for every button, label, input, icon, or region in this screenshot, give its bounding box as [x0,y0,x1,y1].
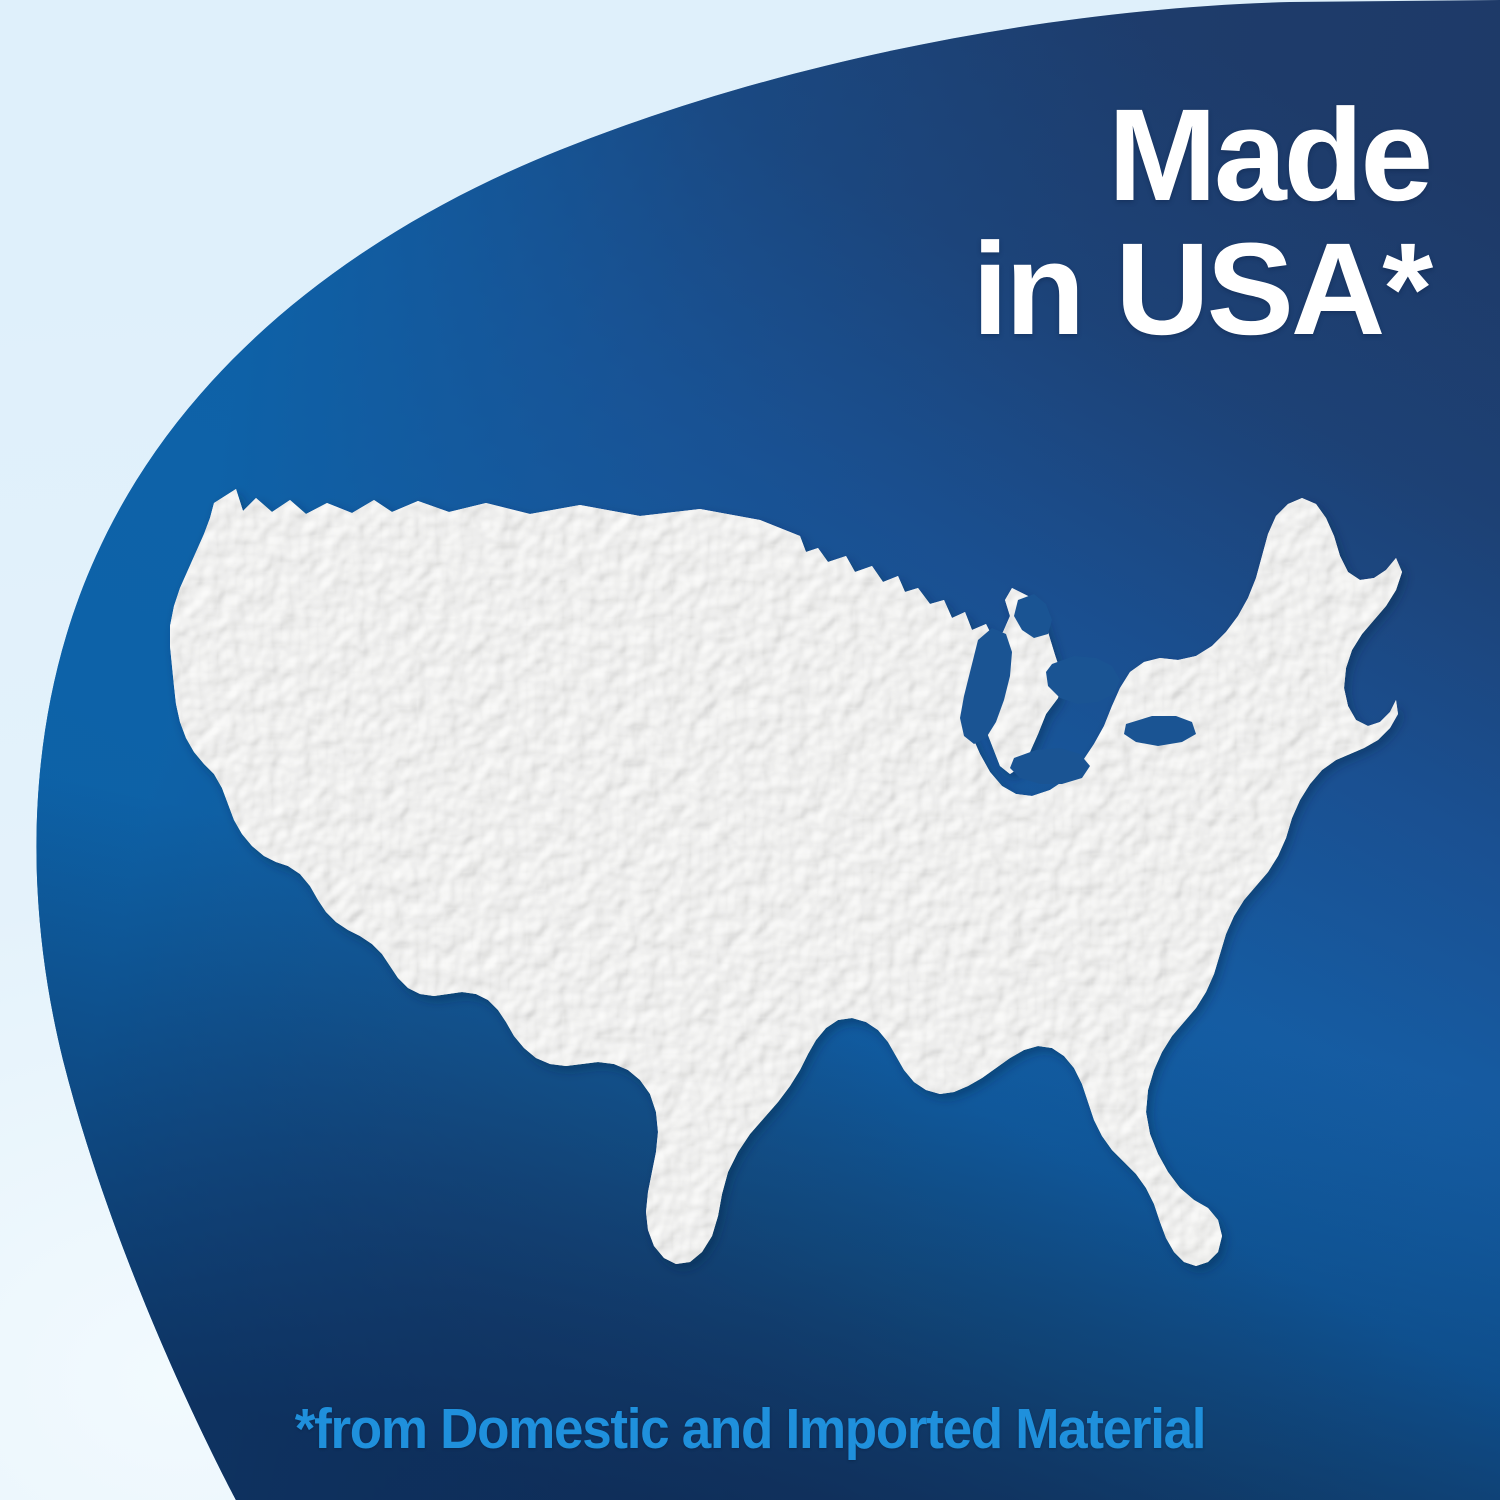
made-in-usa-graphic: Made in USA* *from Domestic and Imported… [0,0,1500,1500]
artwork-layer [0,0,1500,1500]
